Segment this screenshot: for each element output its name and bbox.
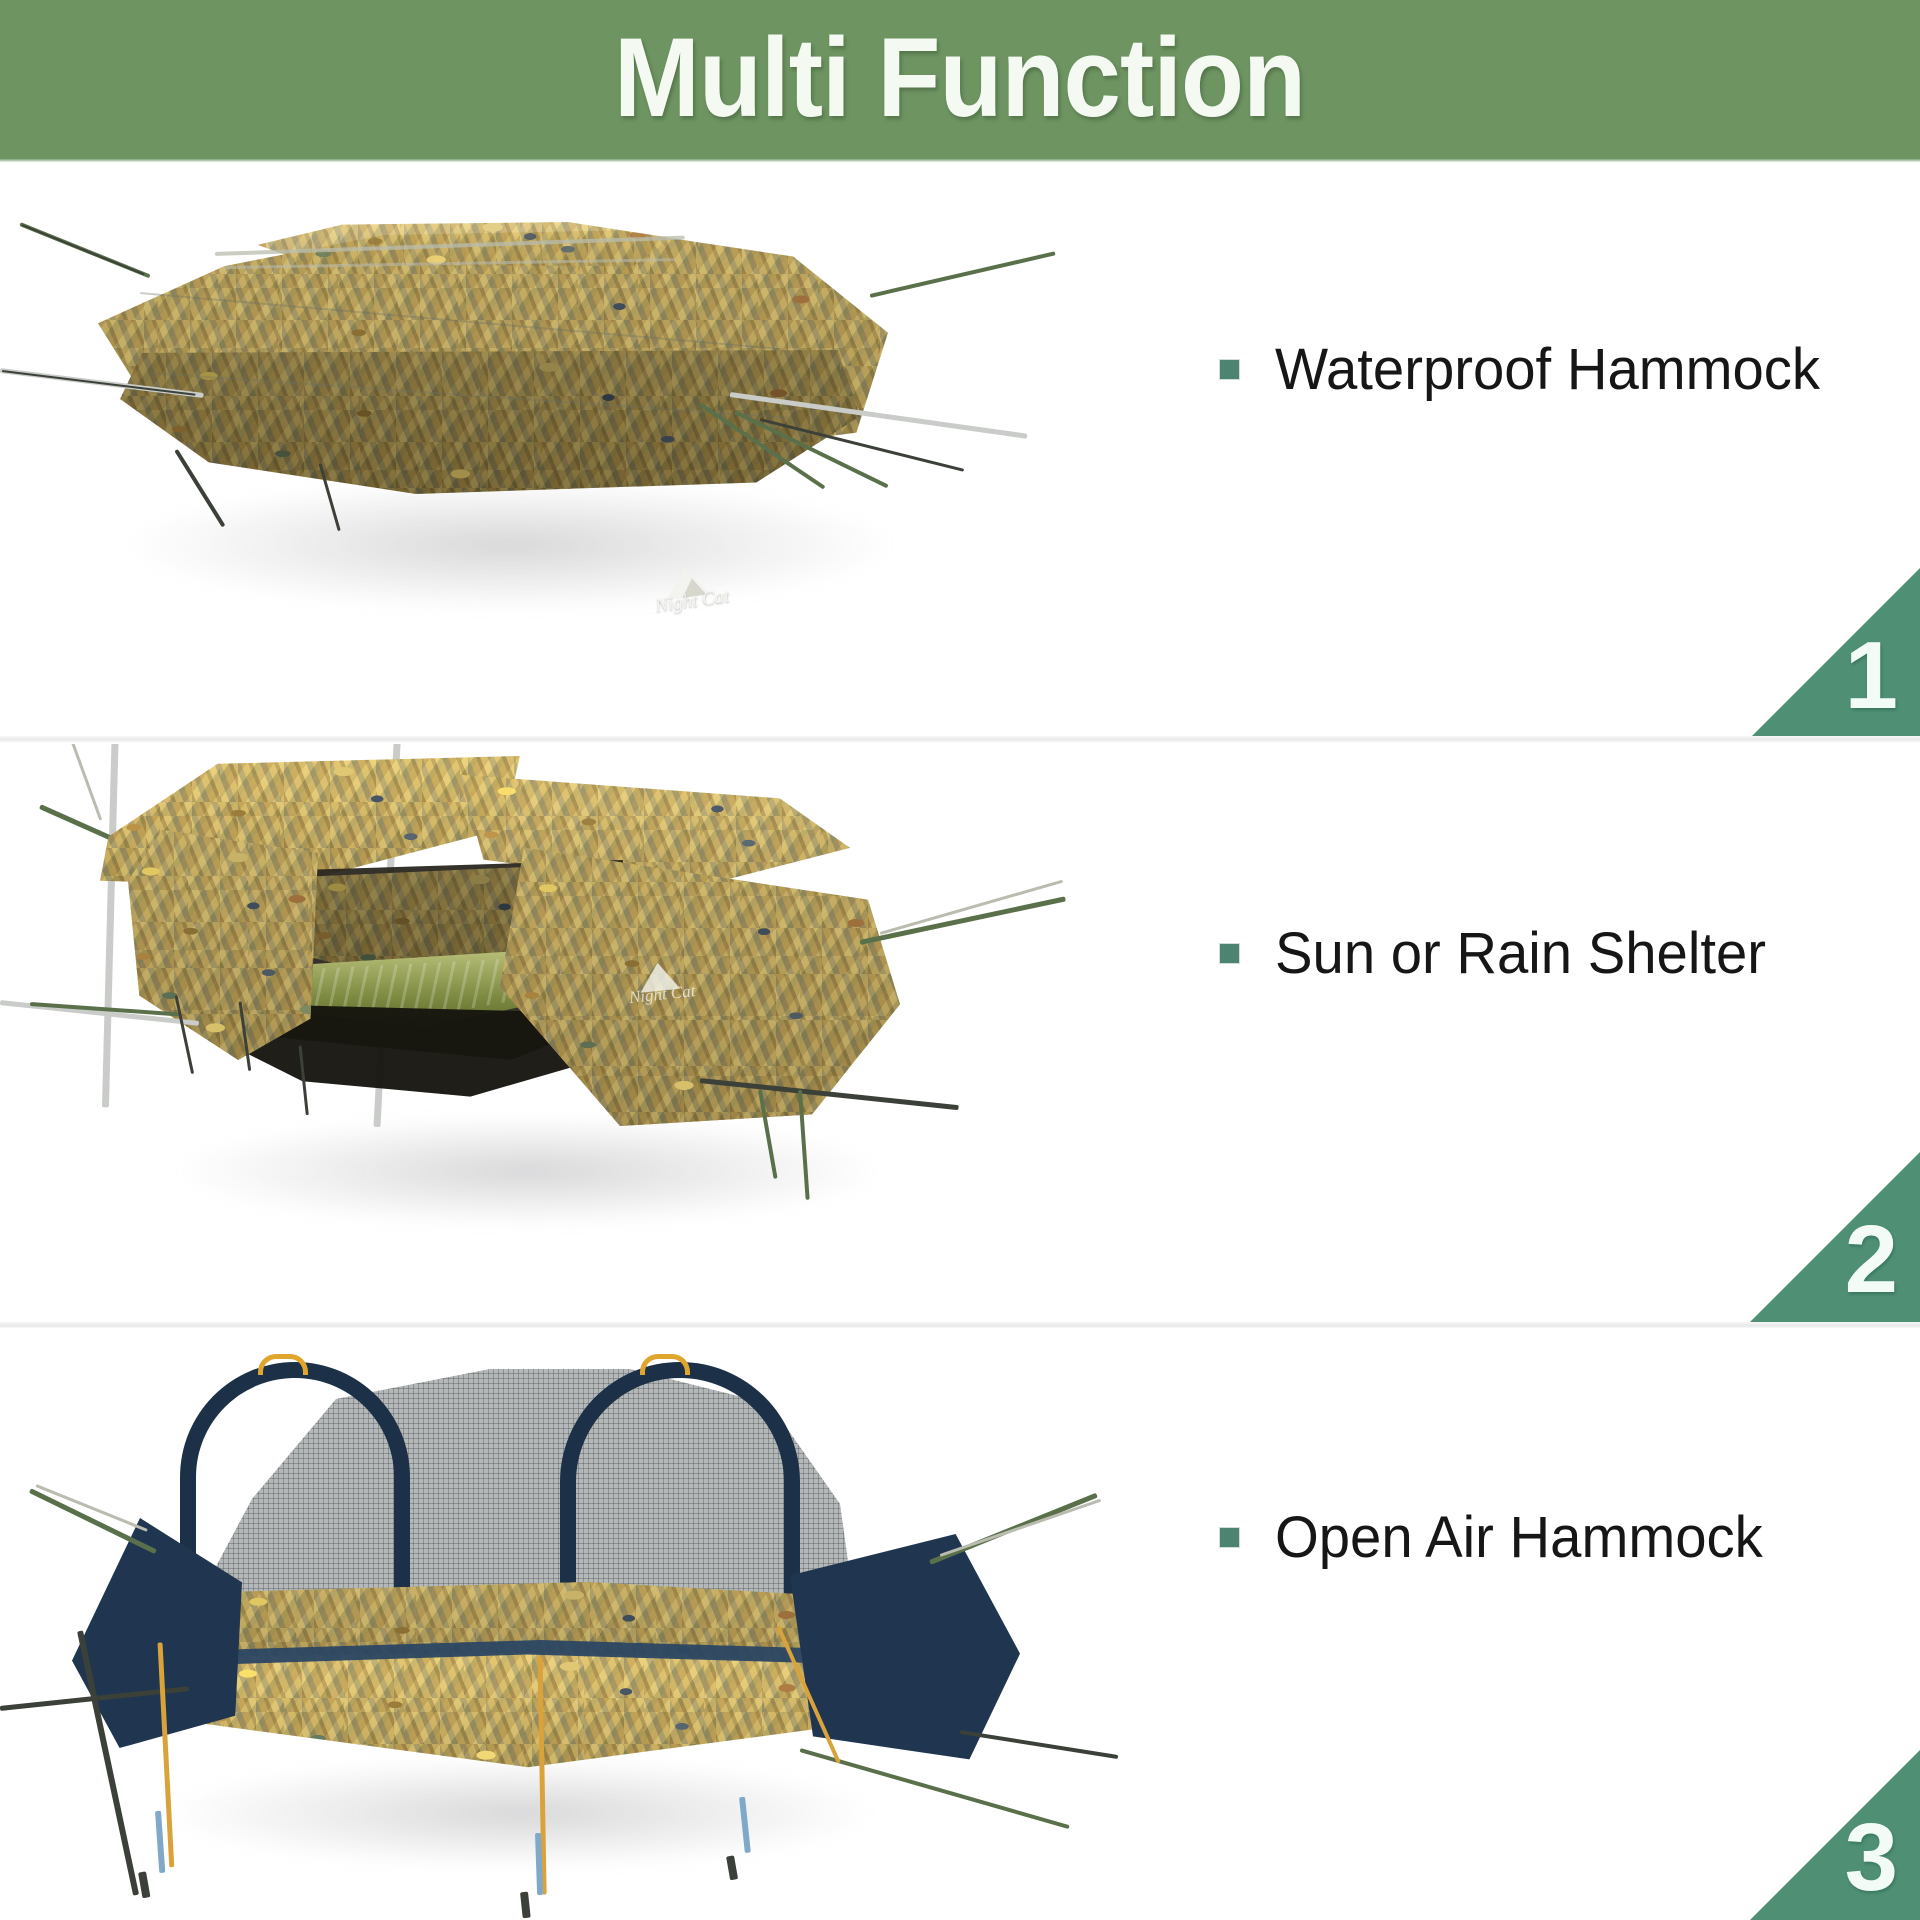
shelter-left-panel [128, 830, 318, 1060]
feature-label-2: Sun or Rain Shelter [1220, 920, 1781, 987]
product-image-waterproof-hammock: Night Cat [0, 162, 1060, 738]
feature-label-3: Open Air Hammock [1220, 1504, 1778, 1571]
section-number-badge-3: 3 [1750, 1750, 1920, 1920]
square-bullet-icon [1220, 944, 1239, 963]
section-divider-1 [0, 736, 1920, 743]
bathtub-floor-lower [164, 1652, 864, 1772]
feature-label-1: Waterproof Hammock [1220, 336, 1837, 403]
feature-section-1: Night Cat 1 [0, 162, 1920, 738]
section-number-badge-2: 2 [1750, 1152, 1920, 1322]
feature-label-text: Open Air Hammock [1275, 1504, 1763, 1571]
brand-logo: Night Cat [609, 950, 725, 1021]
feature-label-text: Sun or Rain Shelter [1275, 920, 1766, 987]
feature-label-text: Waterproof Hammock [1275, 336, 1820, 403]
trekking-pole-left [102, 744, 122, 1107]
square-bullet-icon [1220, 1528, 1239, 1547]
page-title: Multi Function [614, 22, 1305, 134]
product-image-open-air-hammock [0, 1328, 1120, 1920]
header-banner: Multi Function [0, 0, 1920, 160]
infographic-page: Multi Function [0, 0, 1920, 1920]
pole-tip-loop-right [640, 1354, 690, 1375]
feature-section-2: Night Cat 2 [0, 744, 1920, 1322]
badge-number: 1 [1845, 628, 1898, 724]
section-number-badge-1: 1 [1750, 568, 1920, 738]
square-bullet-icon [1220, 360, 1239, 379]
feature-section-3: 3 [0, 1328, 1920, 1920]
product-image-sun-rain-shelter: Night Cat [0, 744, 1120, 1322]
pole-tip-loop-left [258, 1354, 308, 1375]
hammock-lower-hull [120, 350, 860, 494]
badge-number: 3 [1845, 1810, 1898, 1906]
badge-number: 2 [1845, 1212, 1898, 1308]
